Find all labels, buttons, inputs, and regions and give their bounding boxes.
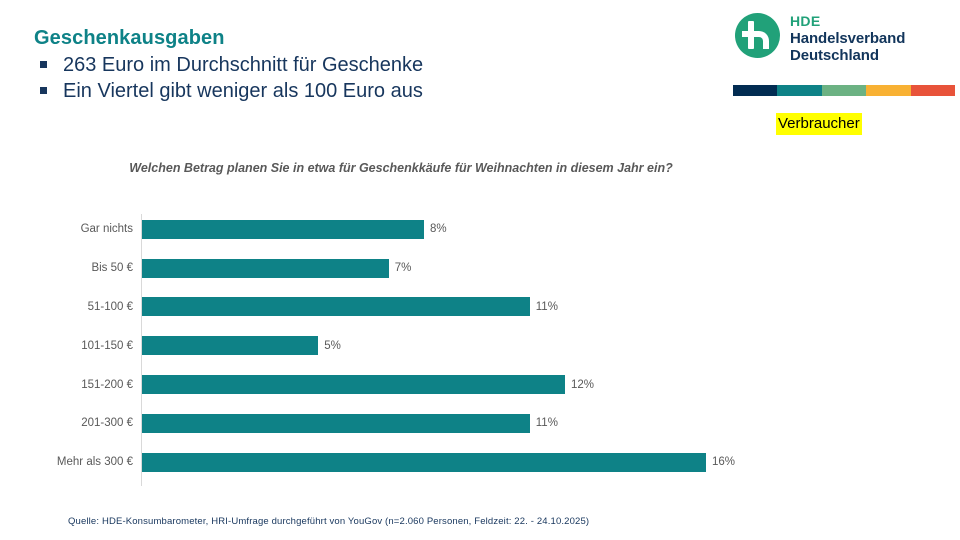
chart-row: Gar nichts8% [0,210,960,249]
bar-container: 8% [142,210,447,249]
logo-line-handelsverband: Handelsverband [790,30,905,48]
bar-value-label: 12% [571,379,594,391]
chart-title: Welchen Betrag planen Sie in etwa für Ge… [112,160,690,177]
bar-value-label: 16% [712,456,735,468]
chart-row: Mehr als 300 €16% [0,443,960,482]
list-item: 263 Euro im Durchschnitt für Geschenke [34,52,674,78]
bar [142,375,565,394]
square-bullet-icon [40,87,47,94]
bar-value-label: 11% [536,417,558,429]
color-bar-segment-2 [777,85,821,96]
chart-rows: Gar nichts8%Bis 50 €7%51-100 €11%101-150… [0,210,960,490]
bar-chart: Gar nichts8%Bis 50 €7%51-100 €11%101-150… [0,210,960,490]
hde-logo: HDE Handelsverband Deutschland [735,13,905,65]
chart-row: 51-100 €11% [0,288,960,327]
color-bar-segment-5 [911,85,955,96]
chart-row: 201-300 €11% [0,404,960,443]
bar-value-label: 8% [430,223,447,235]
status-badge-verbraucher: Verbraucher [776,113,862,135]
bar-container: 16% [142,443,735,482]
headline-bullet-list: 263 Euro im Durchschnitt für Geschenke E… [34,52,674,104]
page-title: Geschenkausgaben [34,26,674,50]
bullet-text: Ein Viertel gibt weniger als 100 Euro au… [63,78,674,104]
bar [142,453,706,472]
bar-container: 5% [142,326,341,365]
list-item: Ein Viertel gibt weniger als 100 Euro au… [34,78,674,104]
category-label: 51-100 € [0,301,133,313]
source-note: Quelle: HDE-Konsumbarometer, HRI-Umfrage… [68,516,589,527]
category-label: 201-300 € [0,417,133,429]
category-label: 101-150 € [0,340,133,352]
bar [142,259,389,278]
chart-row: 101-150 €5% [0,326,960,365]
bar [142,220,424,239]
category-label: Gar nichts [0,223,133,235]
color-bar-segment-3 [822,85,866,96]
bar-value-label: 11% [536,301,558,313]
chart-row: Bis 50 €7% [0,249,960,288]
bar [142,414,530,433]
hde-circle-h-icon [735,13,780,58]
brand-color-bar [733,85,955,96]
bar [142,297,530,316]
bullet-text: 263 Euro im Durchschnitt für Geschenke [63,52,674,78]
logo-h-arch [752,31,769,49]
chart-row: 151-200 €12% [0,365,960,404]
category-label: 151-200 € [0,379,133,391]
bar-value-label: 7% [395,262,412,274]
headline-block: Geschenkausgaben 263 Euro im Durchschnit… [34,26,674,104]
bar-container: 11% [142,404,558,443]
slide-canvas: Geschenkausgaben 263 Euro im Durchschnit… [0,0,960,540]
color-bar-segment-4 [866,85,910,96]
bar-value-label: 5% [324,340,341,352]
logo-line-hde: HDE [790,13,905,30]
category-label: Mehr als 300 € [0,456,133,468]
bar-container: 12% [142,365,594,404]
bar-container: 7% [142,249,411,288]
square-bullet-icon [40,61,47,68]
bar-container: 11% [142,288,558,327]
logo-line-deutschland: Deutschland [790,47,905,65]
hde-logo-text: HDE Handelsverband Deutschland [790,13,905,65]
color-bar-segment-1 [733,85,777,96]
bar [142,336,318,355]
category-label: Bis 50 € [0,262,133,274]
